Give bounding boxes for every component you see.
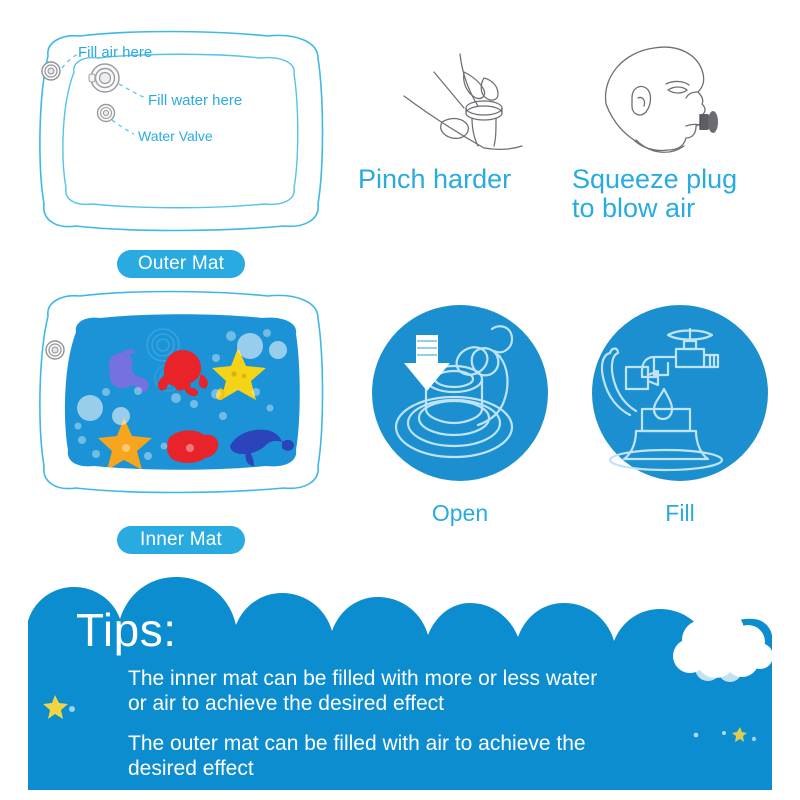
callout-water-valve: Water Valve	[138, 128, 213, 144]
star-decor-right-icon	[688, 723, 762, 749]
outer-mat-pill-label: Outer Mat	[117, 250, 245, 278]
valve-open-arrow-icon	[372, 305, 548, 481]
callout-fill-water-here: Fill water here	[148, 92, 242, 109]
faucet-filling-valve-icon	[592, 305, 768, 481]
cloud-decor-icon	[668, 610, 776, 690]
down-arrow-icon	[404, 335, 450, 391]
water-valve-icon	[98, 105, 115, 122]
fill-step-circle	[592, 305, 768, 481]
squeeze-plug-label: Squeeze plug to blow air	[572, 165, 737, 223]
mouth-plug-icon	[700, 111, 718, 133]
tips-panel: Tips: The inner mat can be filled with m…	[28, 575, 772, 790]
tips-line-2: The outer mat can be filled with air to …	[128, 732, 586, 782]
squeeze-plug-icon	[592, 42, 742, 167]
tips-title: Tips:	[76, 603, 176, 657]
inner-mat-illustration	[18, 288, 348, 498]
air-valve-icon	[42, 62, 60, 80]
pinch-harder-label: Pinch harder	[358, 165, 511, 194]
inner-mat-pill-label: Inner Mat	[117, 526, 245, 554]
open-step-circle	[372, 305, 548, 481]
inner-mat-valve-icon	[46, 341, 64, 359]
pinch-harder-icon	[398, 50, 538, 165]
star-decor-left-icon	[42, 693, 76, 721]
tips-line-1: The inner mat can be filled with more or…	[128, 667, 597, 717]
instruction-infographic: Fill air here Fill water here Water Valv…	[0, 0, 800, 800]
fill-step-label: Fill	[592, 500, 768, 527]
open-step-label: Open	[372, 500, 548, 527]
callout-fill-air-here: Fill air here	[78, 44, 152, 61]
